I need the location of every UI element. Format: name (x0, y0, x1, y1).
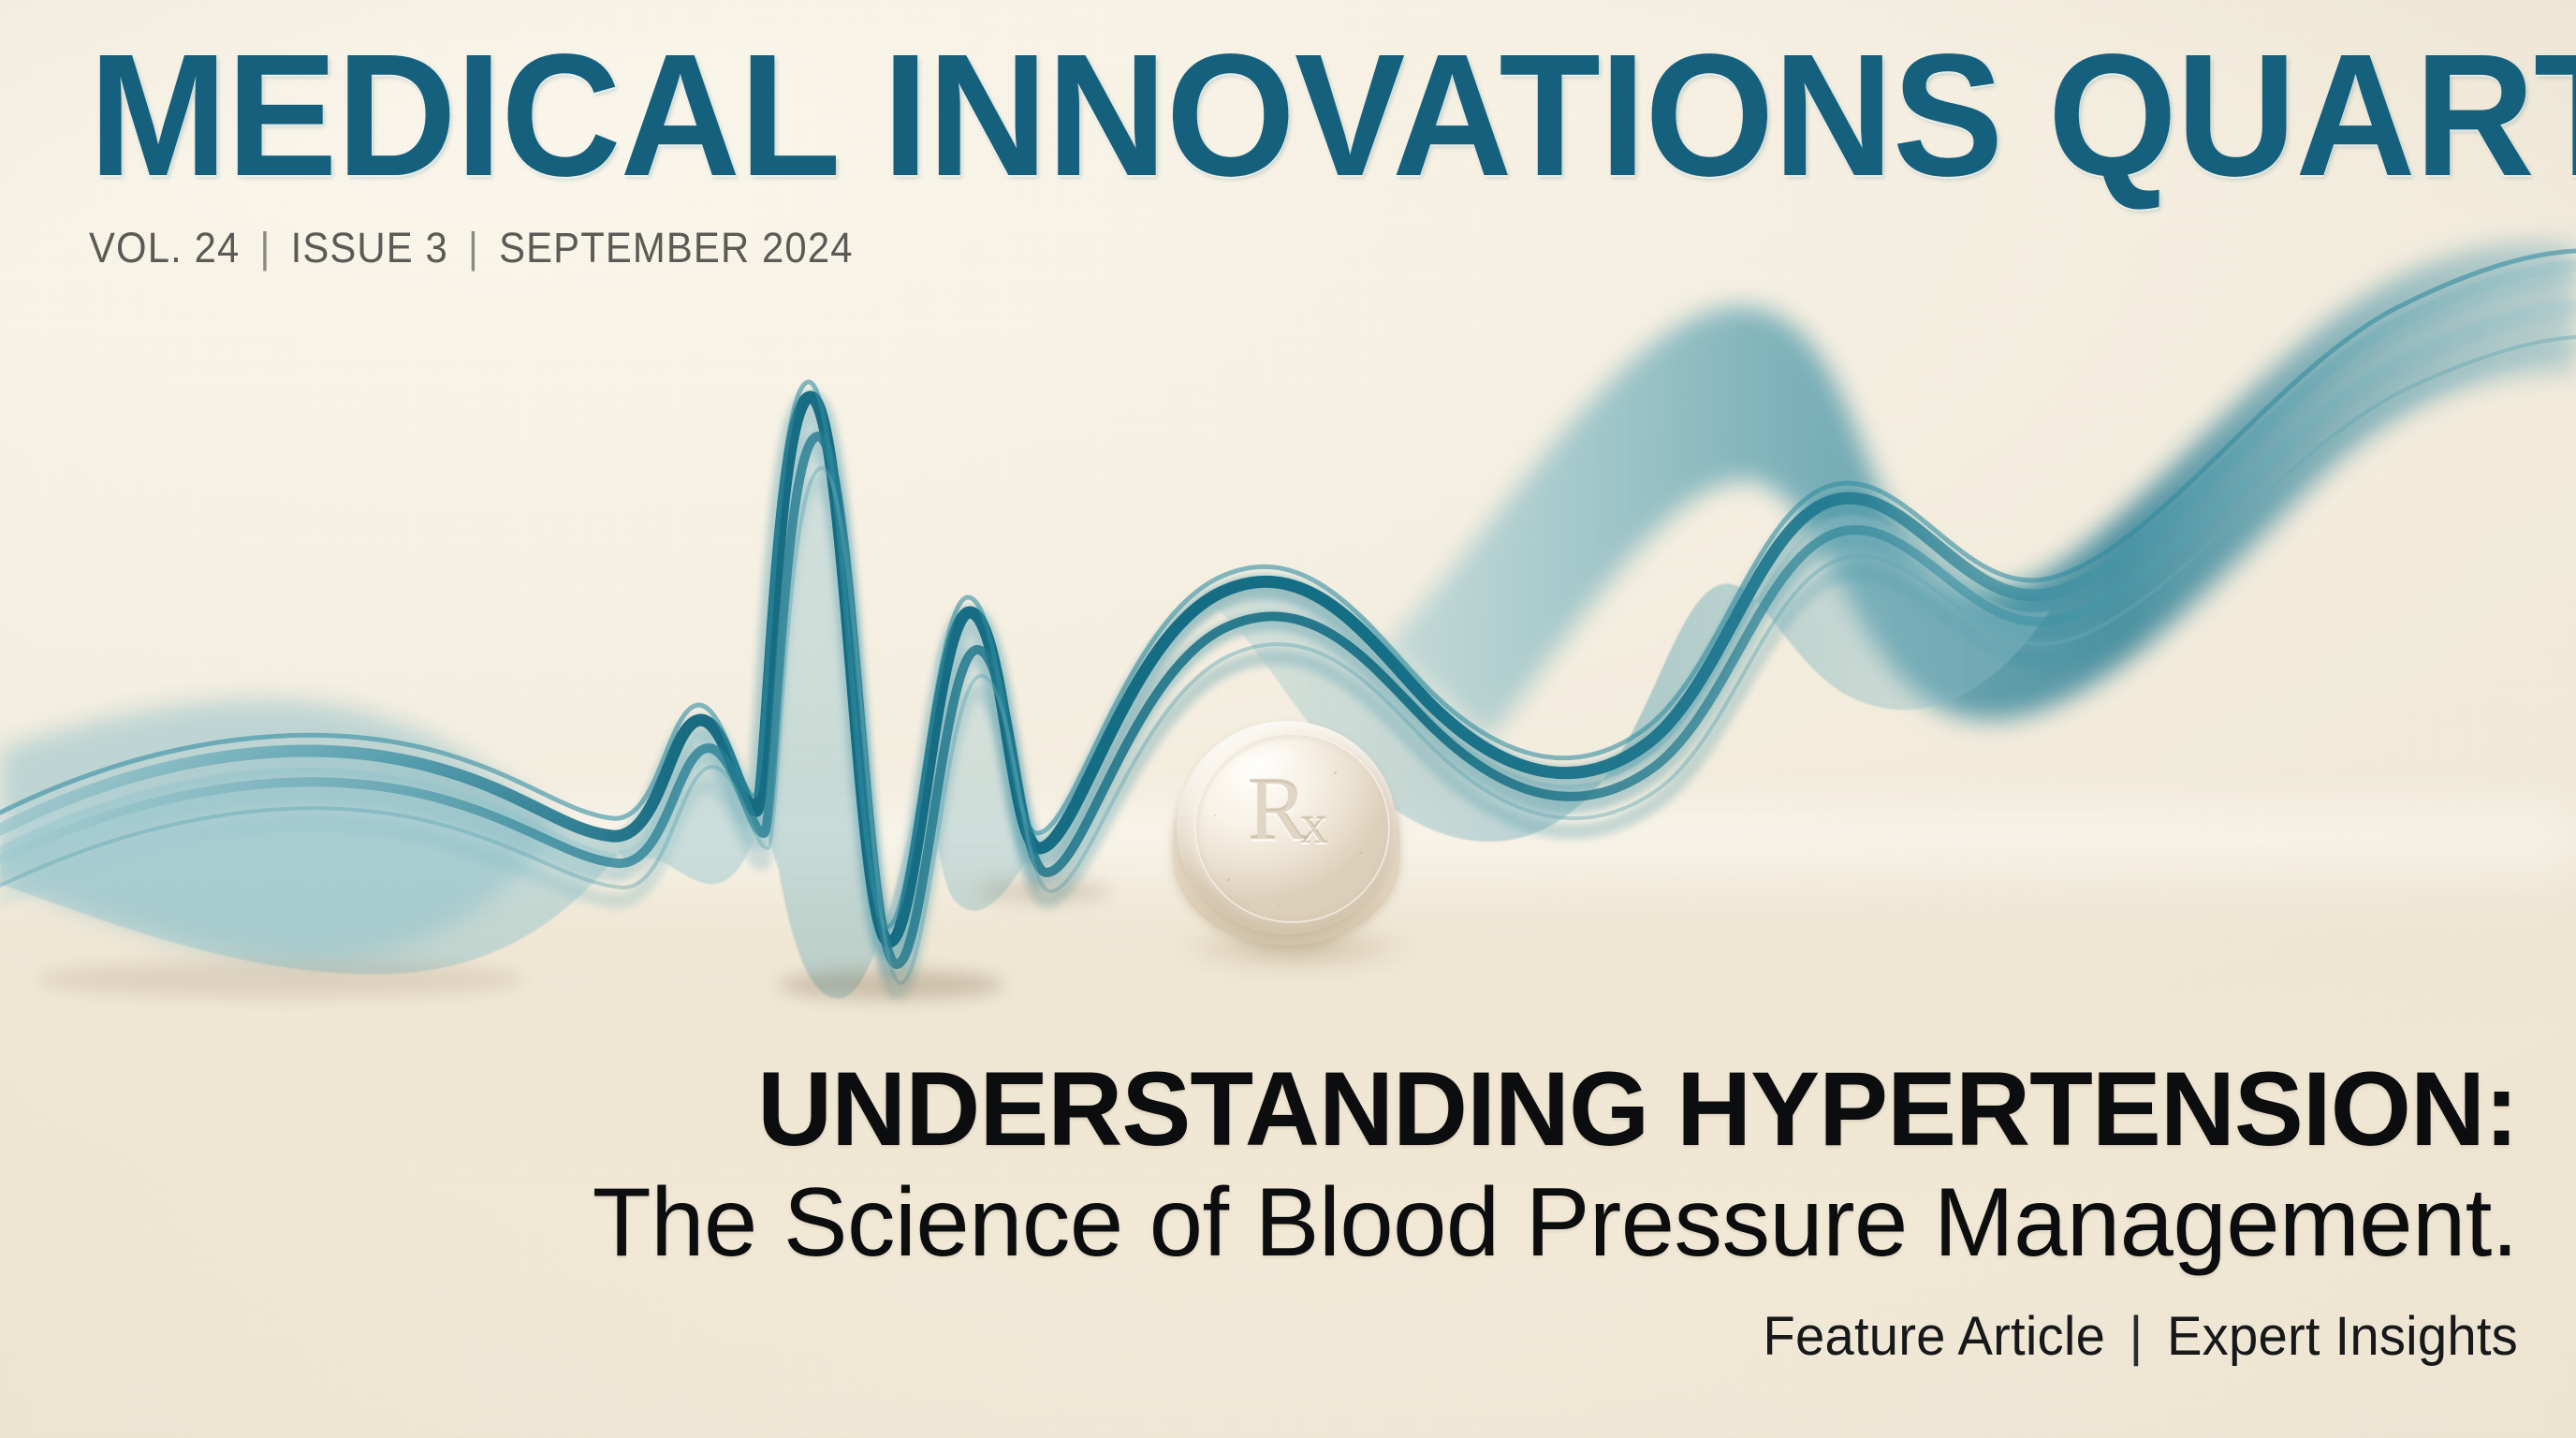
issue-number: ISSUE 3 (291, 224, 448, 271)
kicker-separator: | (2120, 1306, 2152, 1367)
feature-headline-block: UNDERSTANDING HYPERTENSION: The Science … (0, 1056, 2518, 1368)
issue-line: VOL. 24 | ISSUE 3 | SEPTEMBER 2024 (89, 224, 2352, 272)
feature-headline: UNDERSTANDING HYPERTENSION: (25, 1056, 2518, 1163)
masthead: MEDICAL INNOVATIONS QUARTERLY VOL. 24 | … (89, 36, 2523, 272)
kicker-right: Expert Insights (2167, 1306, 2518, 1367)
feature-subhead: The Science of Blood Pressure Management… (25, 1172, 2518, 1273)
issue-separator-2: | (461, 224, 488, 271)
kicker-left: Feature Article (1763, 1306, 2105, 1367)
issue-separator-1: | (252, 224, 279, 271)
issue-volume: VOL. 24 (89, 224, 240, 271)
publication-title: MEDICAL INNOVATIONS QUARTERLY (89, 36, 2413, 196)
feature-kicker: Feature Article | Expert Insights (76, 1305, 2518, 1368)
issue-date: SEPTEMBER 2024 (499, 224, 853, 271)
magazine-cover: Rx MEDICAL INNOVATIONS QUARTERLY VOL. 24… (0, 0, 2576, 1438)
